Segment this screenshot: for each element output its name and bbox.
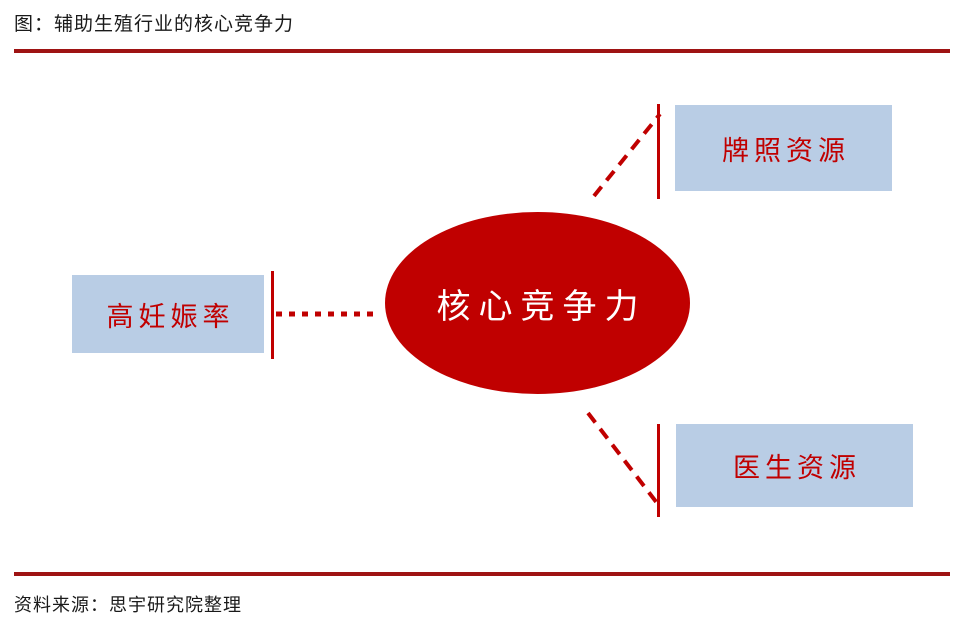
node-box-license[interactable]: 牌照资源 <box>675 105 892 191</box>
node-label-license: 牌照资源 <box>717 129 850 168</box>
figure-container: 图：辅助生殖行业的核心竞争力 牌照资源 高妊娠率 医生资源 核心竞争力 资料来源… <box>0 0 964 636</box>
accent-bar-pregnancy <box>271 271 274 359</box>
figure-title: 图：辅助生殖行业的核心竞争力 <box>14 12 294 38</box>
core-ellipse-label: 核心竞争力 <box>429 279 647 328</box>
title-divider-rule <box>14 49 950 53</box>
node-box-doctor[interactable]: 医生资源 <box>676 424 913 507</box>
node-box-pregnancy[interactable]: 高妊娠率 <box>72 275 264 353</box>
connector-license <box>594 114 660 196</box>
accent-bar-license <box>657 104 660 199</box>
figure-source: 资料来源：思宇研究院整理 <box>14 592 242 618</box>
diagram-canvas: 牌照资源 高妊娠率 医生资源 核心竞争力 <box>0 56 964 570</box>
connector-doctor <box>588 413 657 503</box>
core-ellipse-node[interactable]: 核心竞争力 <box>385 212 690 394</box>
node-label-doctor: 医生资源 <box>728 446 861 485</box>
accent-bar-doctor <box>657 424 660 517</box>
source-divider-rule <box>14 572 950 576</box>
node-label-pregnancy: 高妊娠率 <box>102 295 235 334</box>
